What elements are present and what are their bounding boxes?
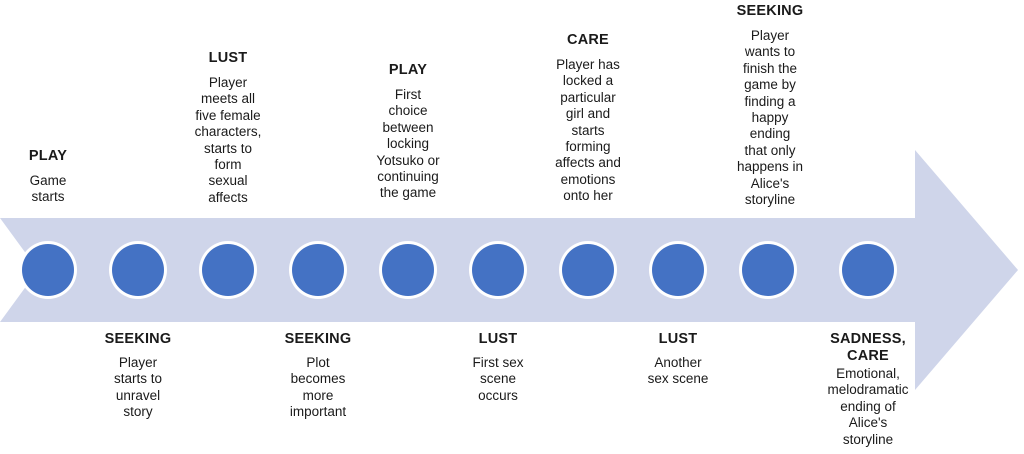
callout-title: SADNESS, CARE (809, 331, 927, 365)
callout-play-game-starts: PLAY Game starts (0, 148, 96, 206)
callout-body: Player starts to unravel story (86, 355, 190, 421)
callout-care-locked-girl: CARE Player has locked a particular girl… (533, 32, 643, 205)
callout-seeking-happy-ending: SEEKING Player wants to finish the game … (716, 3, 824, 208)
milestone-dot[interactable] (292, 244, 344, 296)
callout-title: SEEKING (86, 331, 190, 348)
callout-body: Player wants to finish the game by findi… (716, 28, 824, 208)
callout-body: Game starts (0, 173, 96, 206)
callout-title: SEEKING (716, 3, 824, 20)
callout-body: Player meets all five female characters,… (176, 75, 280, 206)
callout-title: PLAY (0, 148, 96, 165)
callout-title: SEEKING (264, 331, 372, 348)
callout-title: LUST (176, 50, 280, 67)
milestone-dot[interactable] (742, 244, 794, 296)
milestone-dot[interactable] (652, 244, 704, 296)
callout-seeking-unravel-story: SEEKING Player starts to unravel story (86, 331, 190, 421)
timeline-diagram: PLAY Game starts LUST Player meets all f… (0, 0, 1024, 454)
callout-title: PLAY (356, 62, 460, 79)
callout-lust-meets-characters: LUST Player meets all five female charac… (176, 50, 280, 206)
callout-lust-another-sex-scene: LUST Another sex scene (626, 331, 730, 388)
callout-title: LUST (447, 331, 549, 348)
callout-lust-first-sex-scene: LUST First sex scene occurs (447, 331, 549, 404)
milestone-dot[interactable] (382, 244, 434, 296)
milestone-dot[interactable] (112, 244, 164, 296)
callout-seeking-plot-important: SEEKING Plot becomes more important (264, 331, 372, 421)
milestone-dot[interactable] (842, 244, 894, 296)
callout-play-first-choice: PLAY First choice between locking Yotsuk… (356, 62, 460, 202)
callout-body: Plot becomes more important (264, 355, 372, 421)
callout-body: Another sex scene (626, 355, 730, 388)
milestone-dot[interactable] (22, 244, 74, 296)
callout-sadness-care-ending: SADNESS, CARE Emotional, melodramatic en… (809, 331, 927, 448)
milestone-dot[interactable] (202, 244, 254, 296)
callout-body: First sex scene occurs (447, 355, 549, 404)
callout-title: LUST (626, 331, 730, 348)
callout-title: CARE (533, 32, 643, 49)
callout-body: Player has locked a particular girl and … (533, 57, 643, 205)
callout-body: Emotional, melodramatic ending of Alice'… (809, 366, 927, 448)
milestone-dot[interactable] (562, 244, 614, 296)
milestone-dot[interactable] (472, 244, 524, 296)
callout-body: First choice between locking Yotsuko or … (356, 87, 460, 202)
